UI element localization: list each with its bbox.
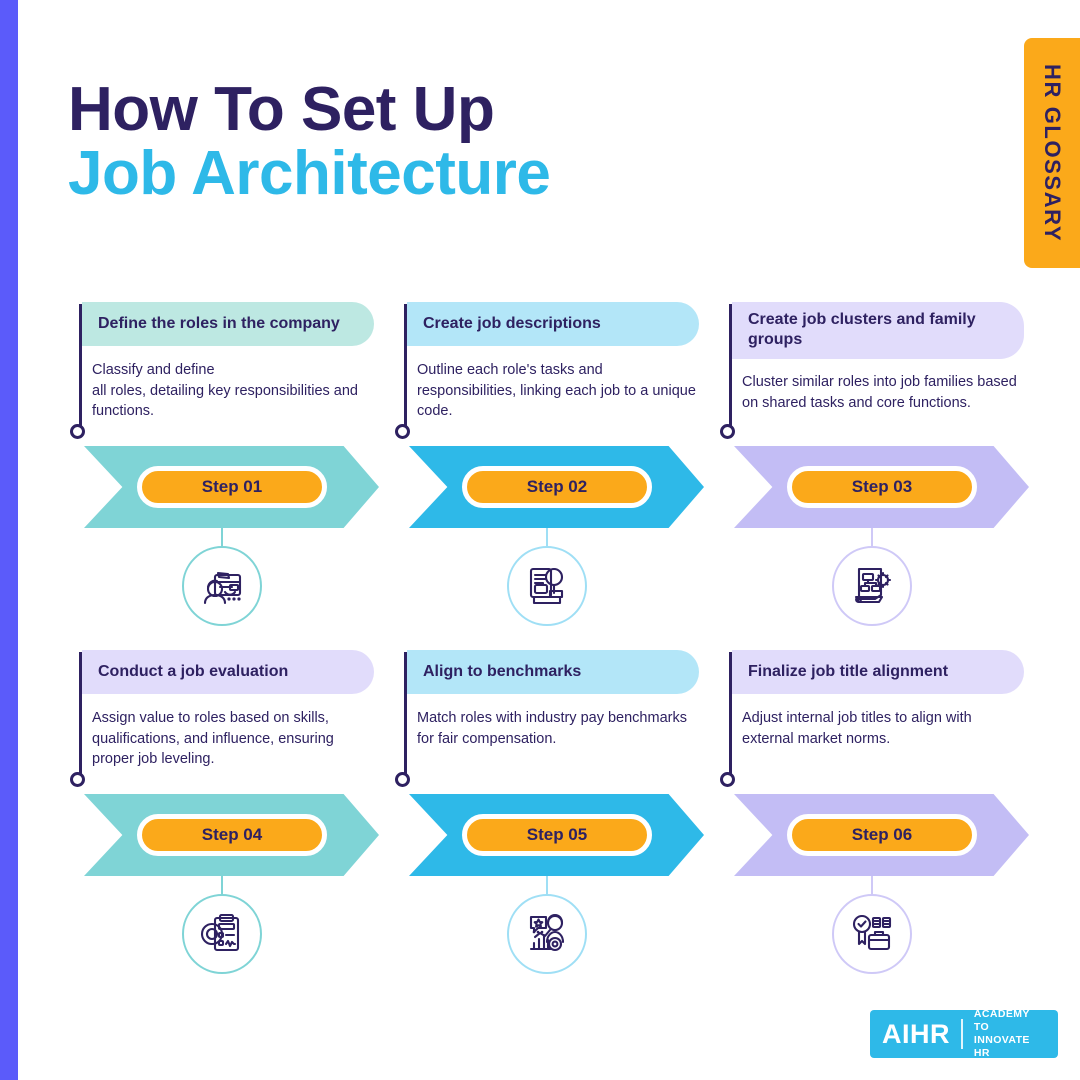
step-rail-dot <box>70 424 85 439</box>
infographic-canvas: HR GLOSSARY How To Set Up Job Architectu… <box>0 0 1080 1080</box>
step-header-pill: Create job descriptions <box>407 302 699 346</box>
logo-tagline-line-1: ACADEMY TO <box>974 1008 1030 1033</box>
step-title: Finalize job title alignment <box>748 662 948 682</box>
step-number-badge: Step 05 <box>462 814 652 856</box>
person-id-card-icon <box>182 546 262 626</box>
step-card: Create job descriptionsOutline each role… <box>399 298 704 618</box>
step-header-pill: Align to benchmarks <box>407 650 699 694</box>
step-number-label: Step 04 <box>202 825 262 845</box>
benchmark-chart-person-icon <box>507 894 587 974</box>
step-number-badge: Step 04 <box>137 814 327 856</box>
step-header-pill: Finalize job title alignment <box>732 650 1024 694</box>
step-title: Create job descriptions <box>423 314 601 334</box>
step-description: Classify and define all roles, detailing… <box>92 360 377 422</box>
steps-grid: Define the roles in the companyClassify … <box>74 298 1024 966</box>
step-number-label: Step 02 <box>527 477 587 497</box>
step-rail-dot <box>395 424 410 439</box>
step-header-pill: Create job clusters and family groups <box>732 302 1024 359</box>
page-title: How To Set Up Job Architecture <box>68 78 768 207</box>
step-number-label: Step 05 <box>527 825 587 845</box>
step-description: Outline each role's tasks and responsibi… <box>417 360 702 422</box>
aihr-logo: AIHR ACADEMY TO INNOVATE HR <box>870 1010 1058 1058</box>
step-description: Match roles with industry pay benchmarks… <box>417 708 702 749</box>
step-chevron: Step 01 <box>84 446 379 528</box>
document-magnifier-briefcase-icon <box>507 546 587 626</box>
left-edge-stripe <box>0 0 18 1080</box>
step-header-pill: Conduct a job evaluation <box>82 650 374 694</box>
title-line-2: Job Architecture <box>68 142 768 206</box>
step-number-badge: Step 03 <box>787 466 977 508</box>
step-number-label: Step 03 <box>852 477 912 497</box>
clipboard-gear-evaluation-icon <box>182 894 262 974</box>
step-chevron: Step 06 <box>734 794 1029 876</box>
badge-briefcase-titles-icon <box>832 894 912 974</box>
logo-tagline-line-2: INNOVATE HR <box>974 1034 1030 1059</box>
step-header-pill: Define the roles in the company <box>82 302 374 346</box>
step-title: Conduct a job evaluation <box>98 662 288 682</box>
step-description: Assign value to roles based on skills, q… <box>92 708 377 770</box>
step-title: Align to benchmarks <box>423 662 581 682</box>
step-card: Align to benchmarksMatch roles with indu… <box>399 646 704 966</box>
org-chart-scroll-gear-icon <box>832 546 912 626</box>
step-number-label: Step 01 <box>202 477 262 497</box>
step-chevron: Step 02 <box>409 446 704 528</box>
step-title: Create job clusters and family groups <box>748 310 1010 351</box>
step-rail-dot <box>70 772 85 787</box>
logo-tagline: ACADEMY TO INNOVATE HR <box>974 1008 1046 1061</box>
step-chevron: Step 03 <box>734 446 1029 528</box>
step-number-badge: Step 01 <box>137 466 327 508</box>
step-rail-dot <box>720 424 735 439</box>
step-card: Create job clusters and family groupsClu… <box>724 298 1029 618</box>
logo-brand-text: AIHR <box>882 1021 950 1048</box>
step-card: Define the roles in the companyClassify … <box>74 298 379 618</box>
step-title: Define the roles in the company <box>98 314 340 334</box>
step-rail-dot <box>395 772 410 787</box>
hr-glossary-badge: HR GLOSSARY <box>1024 38 1080 268</box>
step-chevron: Step 04 <box>84 794 379 876</box>
step-card: Finalize job title alignmentAdjust inter… <box>724 646 1029 966</box>
step-description: Cluster similar roles into job families … <box>742 372 1027 413</box>
step-card: Conduct a job evaluationAssign value to … <box>74 646 379 966</box>
logo-divider <box>961 1019 963 1049</box>
hr-glossary-label: HR GLOSSARY <box>1039 64 1065 242</box>
step-number-label: Step 06 <box>852 825 912 845</box>
step-number-badge: Step 06 <box>787 814 977 856</box>
title-line-1: How To Set Up <box>68 78 768 142</box>
step-number-badge: Step 02 <box>462 466 652 508</box>
step-rail-dot <box>720 772 735 787</box>
step-description: Adjust internal job titles to align with… <box>742 708 1027 749</box>
step-chevron: Step 05 <box>409 794 704 876</box>
